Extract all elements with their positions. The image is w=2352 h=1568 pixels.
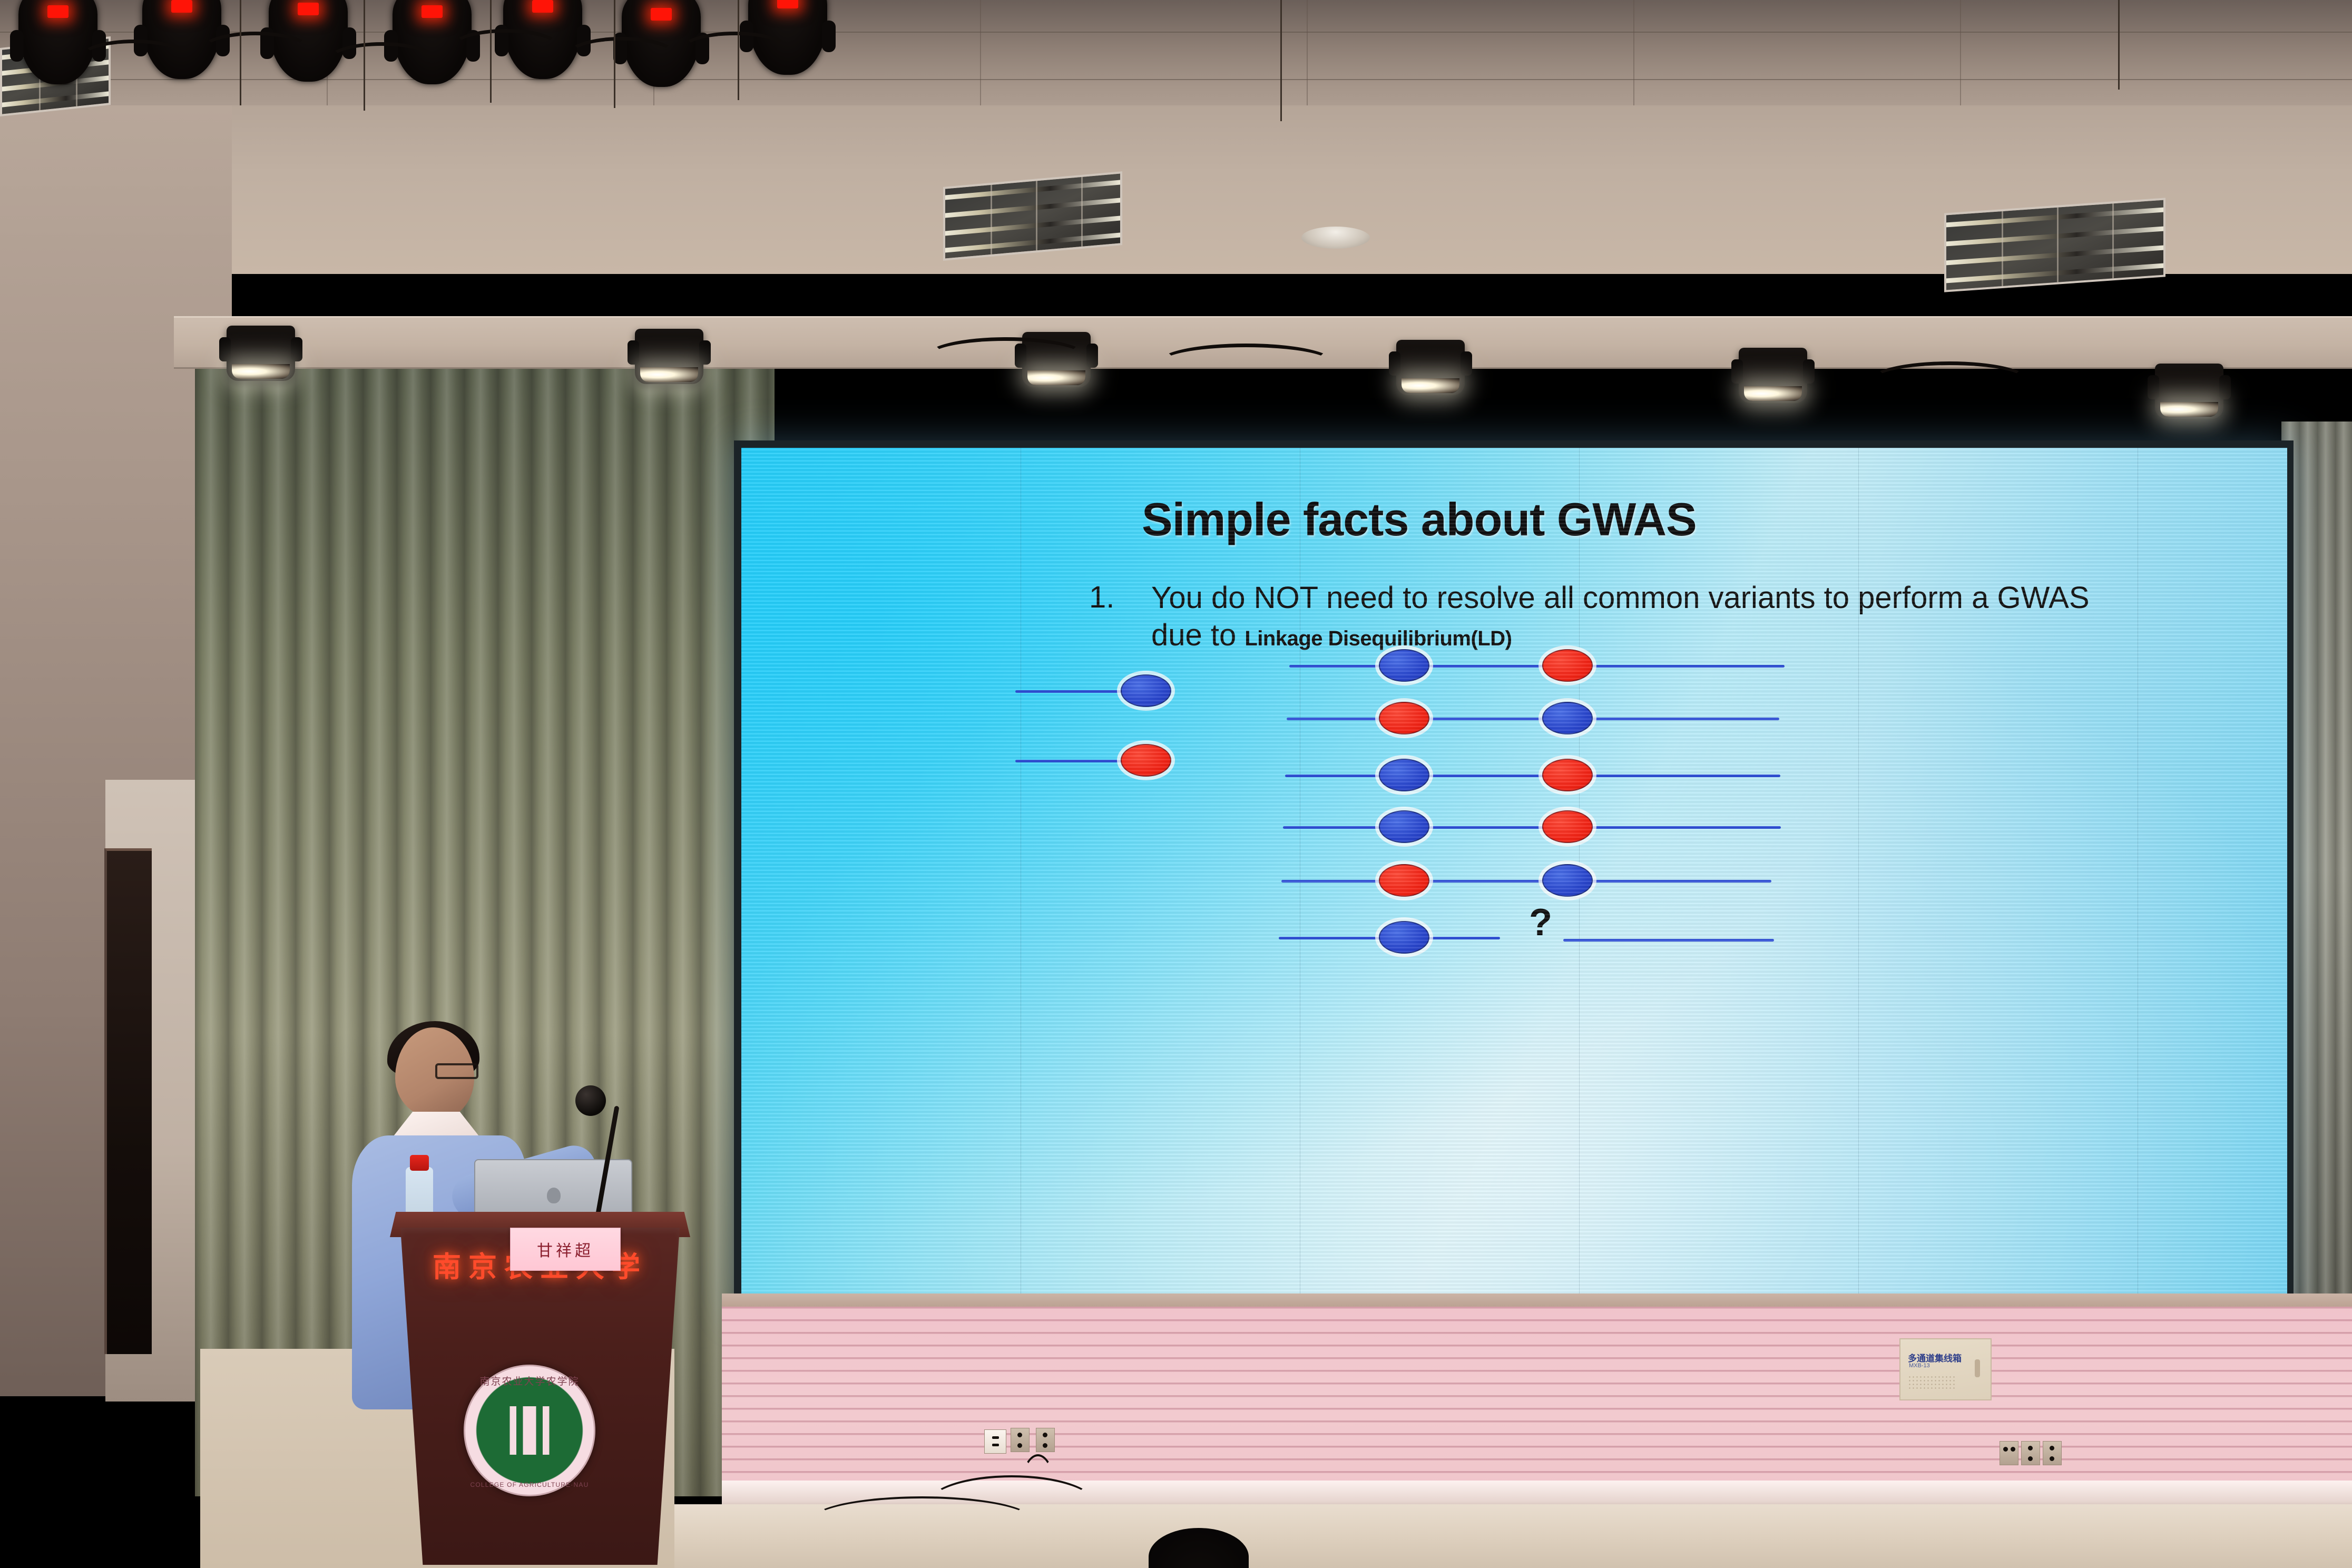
stage-spotlight (1739, 348, 1807, 403)
floor-cable (1020, 1454, 1056, 1533)
bullet-text: You do NOT need to resolve all common va… (1151, 580, 2184, 654)
power-outlet[interactable] (984, 1429, 1006, 1454)
bullet-line-1: You do NOT need to resolve all common va… (1151, 581, 2090, 615)
bullet-line-2-emphasis: Linkage Disequilibrium(LD) (1244, 627, 1512, 650)
unknown-allele-question-mark: ? (1529, 901, 1552, 944)
glasses-icon (435, 1063, 478, 1079)
power-outlet[interactable] (1036, 1428, 1055, 1452)
slide-title: Simple facts about GWAS (1142, 493, 1697, 546)
allele-marker-blue (1379, 759, 1429, 791)
ceiling-grid-line (0, 79, 2352, 80)
power-outlet[interactable] (1011, 1428, 1030, 1452)
ceiling-light-panel (1944, 198, 2165, 292)
allele-marker-blue (1542, 864, 1593, 897)
projection-screen-frame: Simple facts about GWAS 1. You do NOT ne… (734, 440, 2294, 1315)
allele-marker-blue (1542, 702, 1593, 734)
ceiling-grid-line (980, 0, 981, 121)
allele-marker-red (1379, 864, 1429, 897)
allele-marker-red (1542, 649, 1593, 682)
stage-spotlight (1396, 340, 1465, 395)
stage-spotlight (635, 329, 703, 384)
lecture-hall-photo: Simple facts about GWAS 1. You do NOT ne… (0, 0, 2352, 1568)
panel-label-model: MXB-13 (1909, 1363, 1930, 1369)
allele-marker-blue (1379, 810, 1429, 843)
allele-marker-red (1542, 759, 1593, 791)
power-outlet[interactable] (2043, 1441, 2062, 1465)
ceiling-grid-line (1960, 0, 1961, 121)
emblem-text-en: COLLEGE OF AGRICULTURE·NAU (465, 1481, 594, 1488)
university-emblem: 南京农业大学农学院 COLLEGE OF AGRICULTURE·NAU (464, 1365, 595, 1496)
bottle-cap (410, 1155, 429, 1171)
panel-latch-icon[interactable] (1975, 1359, 1980, 1377)
door-opening (104, 848, 152, 1354)
ceiling-grid-line (1633, 0, 1634, 121)
floor-cable (811, 1496, 1033, 1544)
allele-marker-red (1379, 702, 1429, 734)
power-outlet[interactable] (2000, 1441, 2018, 1465)
projection-screen: Simple facts about GWAS 1. You do NOT ne… (741, 448, 2287, 1310)
multichannel-junction-box: 多通道集线箱 MXB-13 (1899, 1338, 1992, 1400)
stage-spotlight (227, 326, 295, 381)
panel-grille-icon (1908, 1375, 1955, 1390)
ceiling-grid-line (1307, 0, 1308, 121)
allele-marker-red (1542, 810, 1593, 843)
smoke-detector-icon (1301, 227, 1370, 249)
allele-marker-blue (1379, 921, 1429, 954)
power-outlet[interactable] (2021, 1441, 2040, 1465)
wheat-icon (502, 1406, 557, 1455)
haplotype-diagram: ? (1015, 674, 2069, 1012)
microphone-icon (575, 1085, 606, 1116)
bullet-number: 1. (1089, 580, 1114, 615)
allele-marker-blue (1379, 649, 1429, 682)
ceiling-light-panel (943, 171, 1122, 261)
bullet-line-2-prefix: due to (1151, 618, 1244, 652)
allele-marker-red (1121, 744, 1171, 777)
laptop-logo-icon (547, 1188, 561, 1203)
presenter-name-card: 甘祥超 (510, 1228, 621, 1271)
emblem-text-cn: 南京农业大学农学院 (465, 1374, 594, 1388)
stage-spotlight (2155, 364, 2223, 419)
allele-marker-blue (1121, 674, 1171, 707)
